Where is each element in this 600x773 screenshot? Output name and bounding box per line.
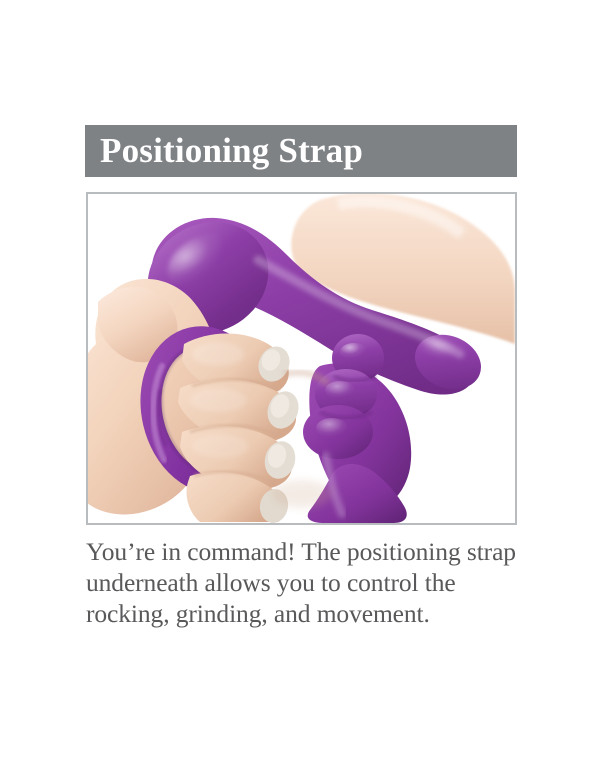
- section-title-bar: Positioning Strap: [85, 125, 517, 177]
- feature-description: You’re in command! The positioning strap…: [86, 536, 526, 629]
- product-photo: [88, 194, 515, 523]
- page-title: Positioning Strap: [100, 133, 363, 168]
- product-illustration: [88, 194, 515, 523]
- product-feature-page: Positioning Strap: [0, 0, 600, 773]
- product-image-frame: [86, 192, 517, 525]
